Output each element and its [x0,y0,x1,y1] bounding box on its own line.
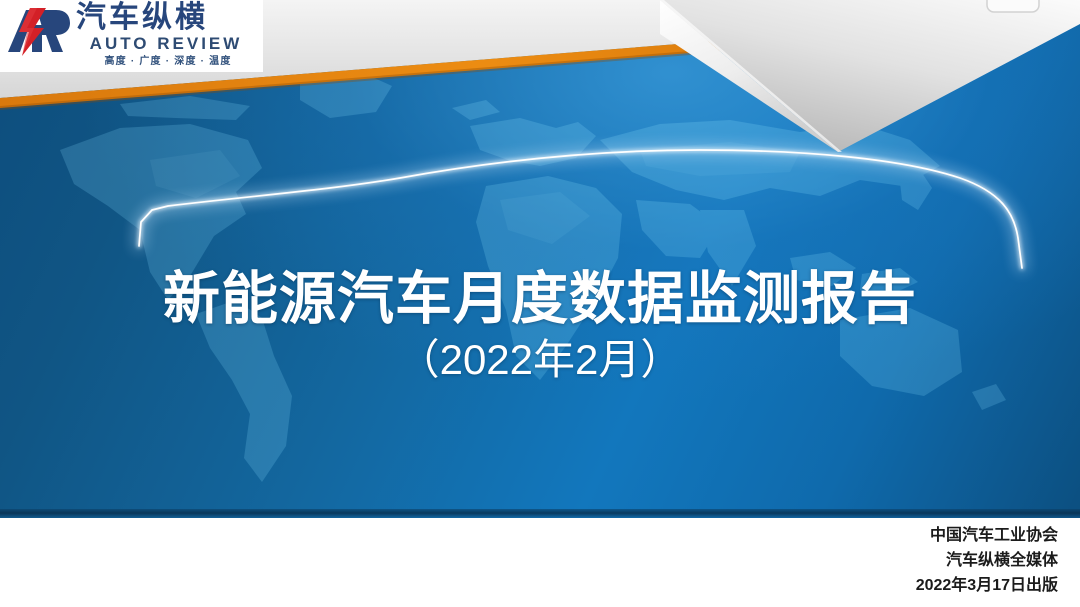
footer-line-publish-date: 2022年3月17日出版 [638,573,1058,598]
panel-bottom-edge [0,509,1080,518]
top-tab-nub [985,0,1041,16]
footer-line-organization: 中国汽车工业协会 [638,523,1058,548]
auto-review-logo-icon [6,4,72,58]
footer-line-media: 汽车纵横全媒体 [638,548,1058,573]
world-map-watermark [0,0,1080,518]
slide-canvas: 汽车纵横 AUTO REVIEW 高度 · 广度 · 深度 · 温度 新能源汽车… [0,0,1080,607]
logo-chinese-wordmark: 汽车纵横 [76,1,258,34]
page-title: 新能源汽车月度数据监测报告 [0,266,1080,332]
logo-tagline: 高度 · 广度 · 深度 · 温度 [76,55,260,68]
brand-logo-card[interactable]: 汽车纵横 AUTO REVIEW 高度 · 广度 · 深度 · 温度 [0,0,263,72]
page-subtitle: （2022年2月） [0,333,1080,387]
footer-credits: 中国汽车工业协会 汽车纵横全媒体 2022年3月17日出版 [638,523,1058,598]
blue-background-panel [0,0,1080,518]
logo-english-wordmark: AUTO REVIEW [72,34,260,54]
